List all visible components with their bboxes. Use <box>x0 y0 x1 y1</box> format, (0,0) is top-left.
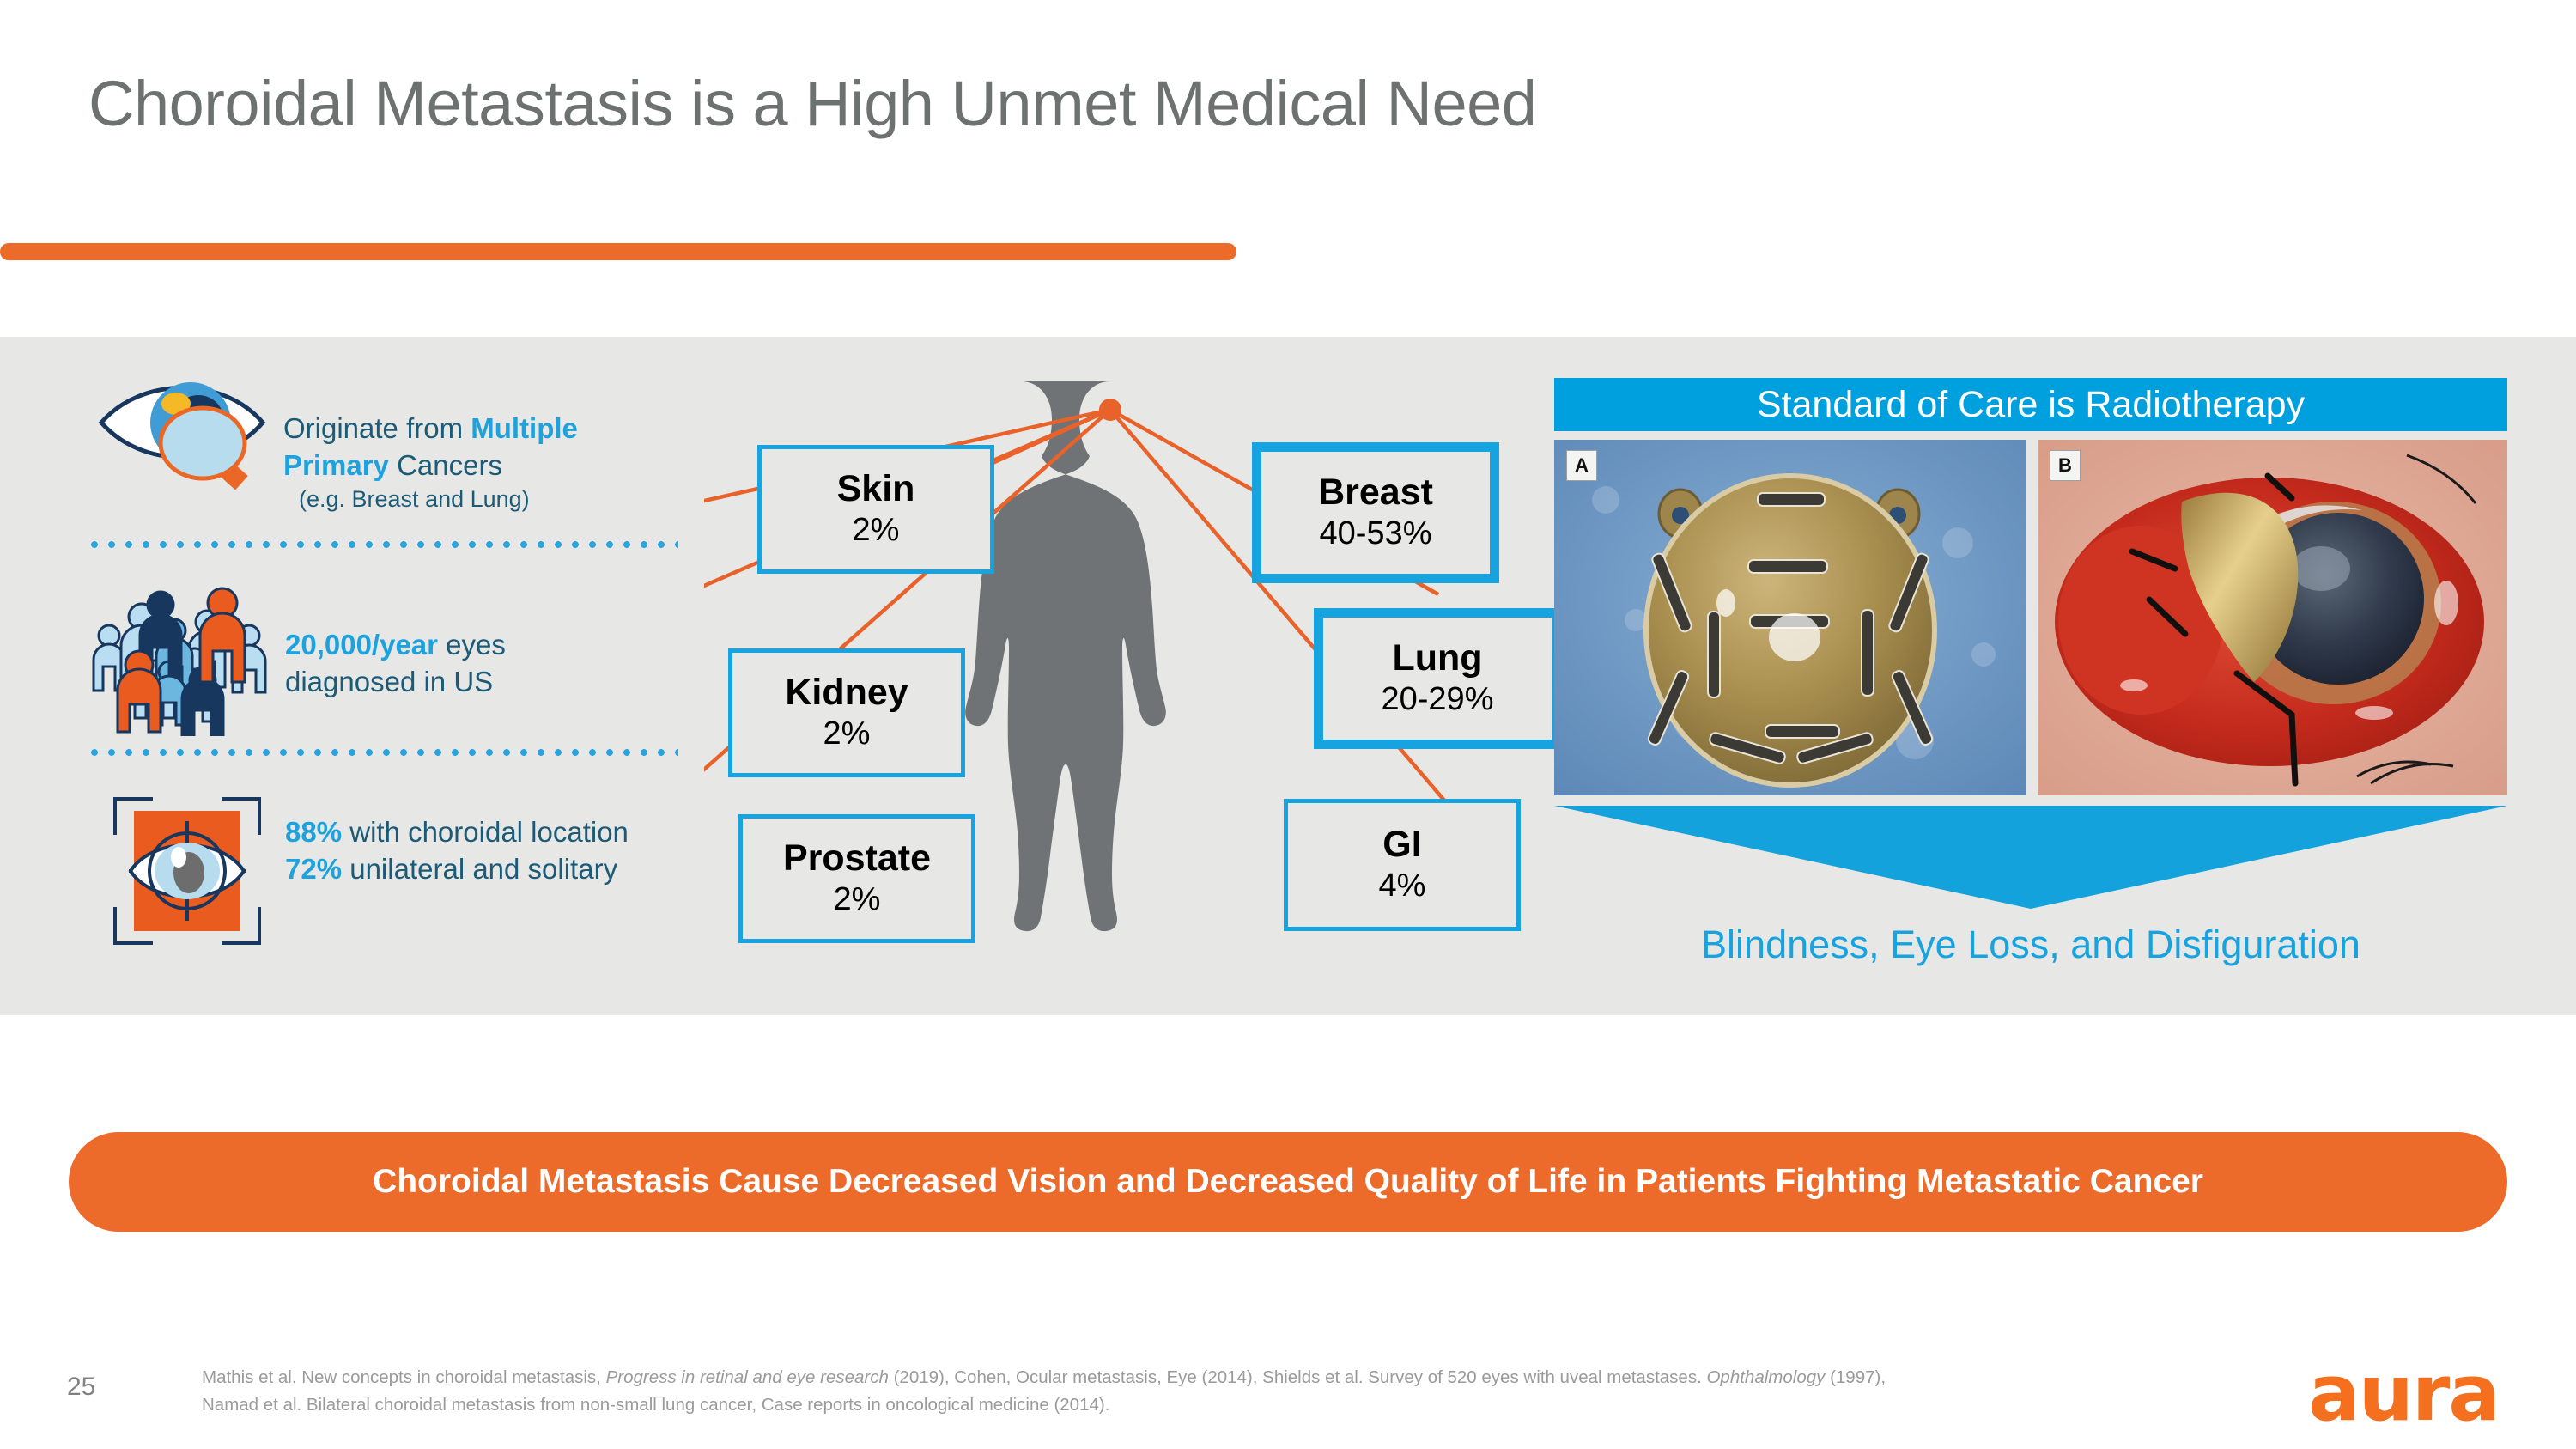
crowd-of-people-icon <box>90 586 288 736</box>
citation-line1-b: (2019), Cohen, Ocular metastasis, Eye (2… <box>889 1367 1707 1387</box>
eye-target-icon <box>110 794 264 948</box>
stat-incidence-text: 20,000/year eyes diagnosed in US <box>285 627 732 701</box>
photo-a-label: A <box>1566 450 1597 481</box>
standard-of-care-header: Standard of Care is Radiotherapy <box>1554 378 2507 431</box>
citation-line1-c: (1997), <box>1825 1367 1886 1387</box>
key-message-banner: Choroidal Metastasis Cause Decreased Vis… <box>69 1132 2507 1232</box>
citation-journal-1: Progress in retinal and eye research <box>606 1367 889 1387</box>
callout-lung-name: Lung <box>1392 639 1482 678</box>
down-arrow-icon <box>1554 806 2507 909</box>
page-number: 25 <box>67 1373 95 1402</box>
callout-skin[interactable]: Skin 2% <box>757 445 994 574</box>
photo-b-label: B <box>2050 450 2081 481</box>
citation-line2: Namad et al. Bilateral choroidal metasta… <box>202 1395 1109 1415</box>
outcome-text: Blindness, Eye Loss, and Disfiguration <box>1554 922 2507 967</box>
stat-origin-line2-plain: Cancers <box>389 449 502 481</box>
eye-magnifier-icon <box>94 369 266 498</box>
stat-incidence-value: 20,000/year <box>285 629 438 661</box>
stat-origin-line1-plain: Originate from <box>283 412 471 444</box>
callout-breast-percent: 40-53% <box>1320 515 1432 553</box>
callout-skin-name: Skin <box>837 470 915 508</box>
callout-lung-percent: 20-29% <box>1382 681 1494 719</box>
slide-root: Choroidal Metastasis is a High Unmet Med… <box>0 0 2576 1449</box>
citations: Mathis et al. New concepts in choroidal … <box>202 1364 2177 1419</box>
stat-origin-line2-bold: Primary <box>283 449 389 481</box>
stat-incidence-unit: eyes <box>438 629 506 661</box>
stat-origin-text: Originate from Multiple Primary Cancers … <box>283 411 730 514</box>
stat-divider-1 <box>86 541 678 548</box>
callout-kidney-name: Kidney <box>785 673 908 712</box>
stat-choroidal-pct: 88% <box>285 816 342 848</box>
callout-gi-name: GI <box>1382 825 1421 864</box>
callout-breast-name: Breast <box>1318 473 1433 512</box>
callout-skin-percent: 2% <box>853 512 900 550</box>
eye-plaque-photo-b: B <box>2038 440 2507 795</box>
callout-prostate[interactable]: Prostate 2% <box>738 814 975 943</box>
citation-journal-2: Ophthalmology <box>1706 1367 1825 1387</box>
callout-prostate-name: Prostate <box>783 839 931 878</box>
stat-location-text: 88% with choroidal location 72% unilater… <box>285 814 766 888</box>
stat-unilateral-pct: 72% <box>285 853 342 885</box>
page-title: Choroidal Metastasis is a High Unmet Med… <box>88 67 1536 140</box>
stat-divider-2 <box>86 749 678 756</box>
callout-kidney-percent: 2% <box>823 715 871 753</box>
aura-logo: aura <box>2308 1355 2499 1433</box>
callout-lung[interactable]: Lung 20-29% <box>1314 608 1561 749</box>
plaque-photo-a: A <box>1554 440 2026 795</box>
stat-choroidal-label: with choroidal location <box>342 816 629 848</box>
eye-origin-dot <box>1099 399 1121 421</box>
stat-incidence-line2: diagnosed in US <box>285 666 493 697</box>
callout-breast[interactable]: Breast 40-53% <box>1252 442 1499 583</box>
title-underline-bar <box>0 243 1236 260</box>
callout-prostate-percent: 2% <box>834 881 881 919</box>
stat-origin-line1-bold: Multiple <box>471 412 578 444</box>
callout-gi-percent: 4% <box>1379 868 1426 905</box>
stat-origin-line3: (e.g. Breast and Lung) <box>299 484 730 514</box>
callout-kidney[interactable]: Kidney 2% <box>728 648 965 777</box>
stat-unilateral-label: unilateral and solitary <box>342 853 617 885</box>
citation-line1-a: Mathis et al. New concepts in choroidal … <box>202 1367 606 1387</box>
callout-gi[interactable]: GI 4% <box>1284 799 1521 931</box>
